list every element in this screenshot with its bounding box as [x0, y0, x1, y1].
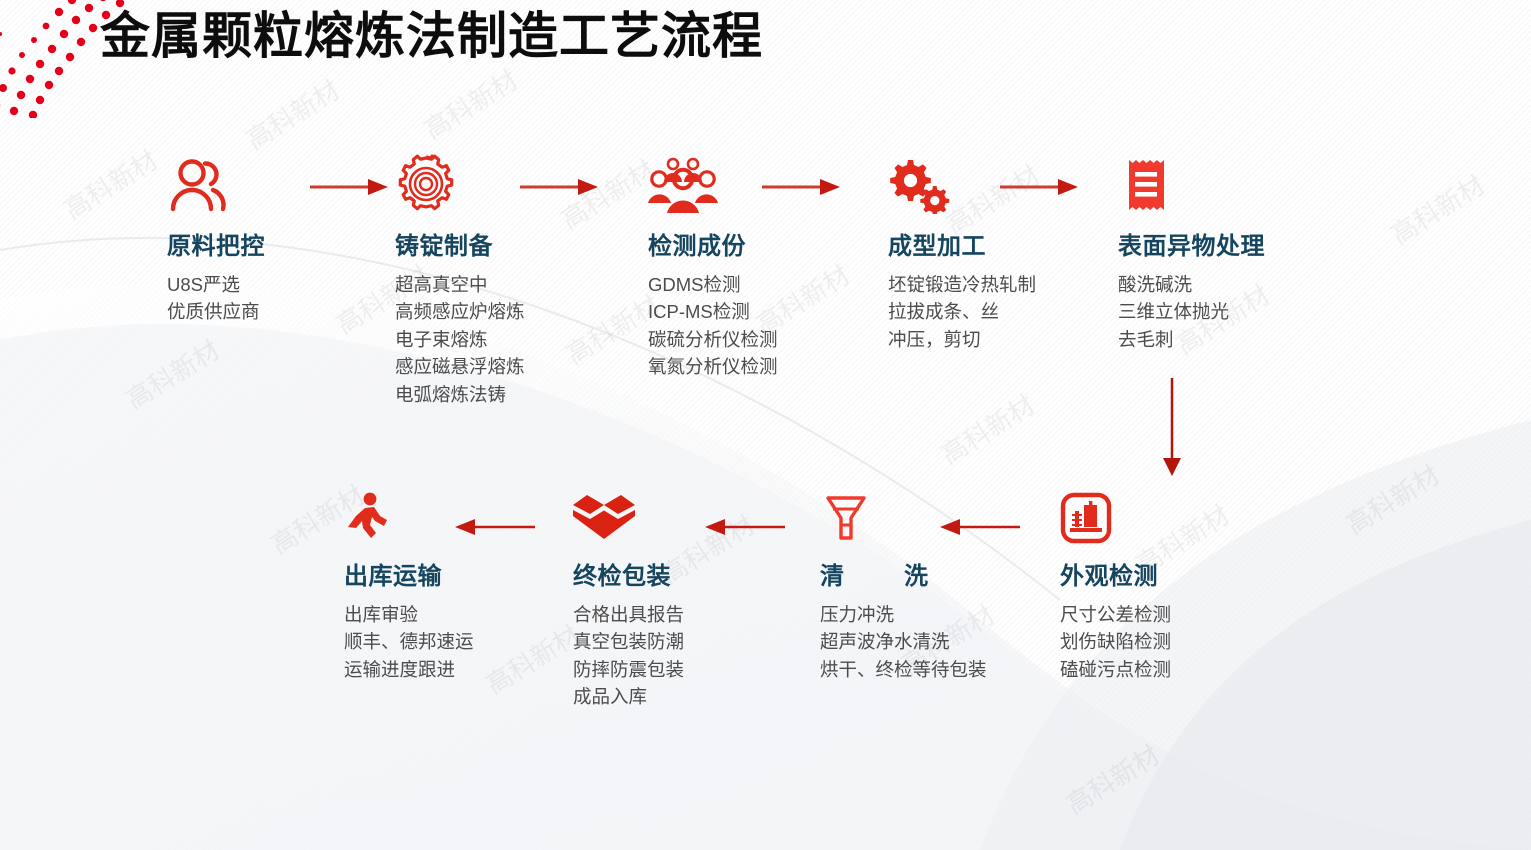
list-item: 优质供应商 — [167, 298, 417, 325]
page-header: 金属颗粒熔炼法制造工艺流程 — [100, 6, 763, 66]
step-detail-list: U8S严选 优质供应商 — [167, 271, 417, 326]
step-icon-wrapper — [888, 150, 1138, 214]
walking-person-icon — [344, 492, 392, 544]
list-item: 超高真空中 — [395, 271, 645, 298]
list-item: 顺丰、德邦速运 — [344, 628, 594, 655]
list-item: 划伤缺陷检测 — [1060, 628, 1310, 655]
flow-step-cleaning[interactable]: 清 洗 压力冲洗 超声波净水清洗 烘干、终检等待包装 — [820, 492, 1020, 683]
step-icon-wrapper — [648, 150, 898, 214]
step-detail-list: 超高真空中 高频感应炉熔炼 电子束熔炼 感应磁悬浮熔炼 电弧熔炼法铸 — [395, 271, 645, 408]
step-detail-list: 尺寸公差检测 划伤缺陷检测 磕碰污点检测 — [1060, 601, 1310, 683]
step-title: 铸锭制备 — [395, 226, 645, 261]
list-item: 去毛刺 — [1118, 326, 1378, 353]
list-item: 运输进度跟进 — [344, 656, 594, 683]
flow-step-forming-processing[interactable]: 成型加工 坯锭锻造冷热轧制 拉拔成条、丝 冲压，剪切 — [888, 150, 1138, 353]
page-title: 金属颗粒熔炼法制造工艺流程 — [100, 6, 763, 66]
step-icon-wrapper — [1118, 150, 1378, 214]
list-item: 成品入库 — [573, 683, 823, 710]
list-item: 压力冲洗 — [820, 601, 1020, 628]
double-gears-icon — [888, 158, 950, 214]
step-title: 出库运输 — [344, 556, 594, 591]
list-item: ICP-MS检测 — [648, 298, 898, 325]
list-item: 高频感应炉熔炼 — [395, 298, 645, 325]
receipt-icon — [1118, 156, 1174, 214]
flow-step-surface-treatment[interactable]: 表面异物处理 酸洗碱洗 三维立体抛光 去毛刺 — [1118, 150, 1378, 353]
list-item: 超声波净水清洗 — [820, 628, 1020, 655]
funnel-icon — [820, 492, 872, 544]
list-item: 酸洗碱洗 — [1118, 271, 1378, 298]
step-title: 原料把控 — [167, 226, 417, 261]
step-detail-list: 出库审验 顺丰、德邦速运 运输进度跟进 — [344, 601, 594, 683]
step-icon-wrapper — [395, 150, 645, 214]
list-item: 感应磁悬浮熔炼 — [395, 353, 645, 380]
list-item: 防摔防震包装 — [573, 656, 823, 683]
list-item: GDMS检测 — [648, 271, 898, 298]
gear-concentric-icon — [395, 154, 457, 214]
flow-step-outbound-transport[interactable]: 出库运输 出库审验 顺丰、德邦速运 运输进度跟进 — [344, 492, 594, 683]
list-item: 合格出具报告 — [573, 601, 823, 628]
step-title: 成型加工 — [888, 226, 1138, 261]
list-item: 三维立体抛光 — [1118, 298, 1378, 325]
list-item: 出库审验 — [344, 601, 594, 628]
step-icon-wrapper — [1060, 492, 1310, 544]
flow-step-ingot-preparation[interactable]: 铸锭制备 超高真空中 高频感应炉熔炼 电子束熔炼 感应磁悬浮熔炼 电弧熔炼法铸 — [395, 150, 645, 408]
list-item: 电弧熔炼法铸 — [395, 381, 645, 408]
step-icon-wrapper — [573, 492, 823, 544]
step-icon-wrapper — [344, 492, 594, 544]
list-item: 尺寸公差检测 — [1060, 601, 1310, 628]
step-detail-list: GDMS检测 ICP-MS检测 碳硫分析仪检测 氧氮分析仪检测 — [648, 271, 898, 381]
flow-arrow-down — [1160, 378, 1184, 478]
step-title: 检测成份 — [648, 226, 898, 261]
flow-step-appearance-inspection[interactable]: 外观检测 尺寸公差检测 划伤缺陷检测 磕碰污点检测 — [1060, 492, 1310, 683]
list-item: 烘干、终检等待包装 — [820, 656, 1020, 683]
factory-badge-icon — [1060, 492, 1112, 544]
process-flow-diagram: 原料把控 U8S严选 优质供应商 铸锭制备 超高真空中 高频感应炉熔炼 电子束熔… — [0, 0, 1531, 850]
step-title: 终检包装 — [573, 556, 823, 591]
flow-step-final-inspection-packaging[interactable]: 终检包装 合格出具报告 真空包装防潮 防摔防震包装 成品入库 — [573, 492, 823, 711]
step-detail-list: 酸洗碱洗 三维立体抛光 去毛刺 — [1118, 271, 1378, 353]
step-title: 清 洗 — [820, 556, 1020, 591]
list-item: 氧氮分析仪检测 — [648, 353, 898, 380]
people-group-icon — [648, 156, 718, 214]
list-item: 磕碰污点检测 — [1060, 656, 1310, 683]
step-detail-list: 压力冲洗 超声波净水清洗 烘干、终检等待包装 — [820, 601, 1020, 683]
list-item: U8S严选 — [167, 271, 417, 298]
list-item: 碳硫分析仪检测 — [648, 326, 898, 353]
step-icon-wrapper — [820, 492, 1020, 544]
step-detail-list: 坯锭锻造冷热轧制 拉拔成条、丝 冲压，剪切 — [888, 271, 1138, 353]
list-item: 真空包装防潮 — [573, 628, 823, 655]
two-people-icon — [167, 156, 229, 214]
step-icon-wrapper — [167, 150, 417, 214]
step-title: 表面异物处理 — [1118, 226, 1378, 261]
list-item: 冲压，剪切 — [888, 326, 1138, 353]
list-item: 坯锭锻造冷热轧制 — [888, 271, 1138, 298]
step-detail-list: 合格出具报告 真空包装防潮 防摔防震包装 成品入库 — [573, 601, 823, 711]
list-item: 拉拔成条、丝 — [888, 298, 1138, 325]
step-title: 外观检测 — [1060, 556, 1310, 591]
flow-step-composition-testing[interactable]: 检测成份 GDMS检测 ICP-MS检测 碳硫分析仪检测 氧氮分析仪检测 — [648, 150, 898, 381]
flow-step-raw-material-control[interactable]: 原料把控 U8S严选 优质供应商 — [167, 150, 417, 326]
list-item: 电子束熔炼 — [395, 326, 645, 353]
